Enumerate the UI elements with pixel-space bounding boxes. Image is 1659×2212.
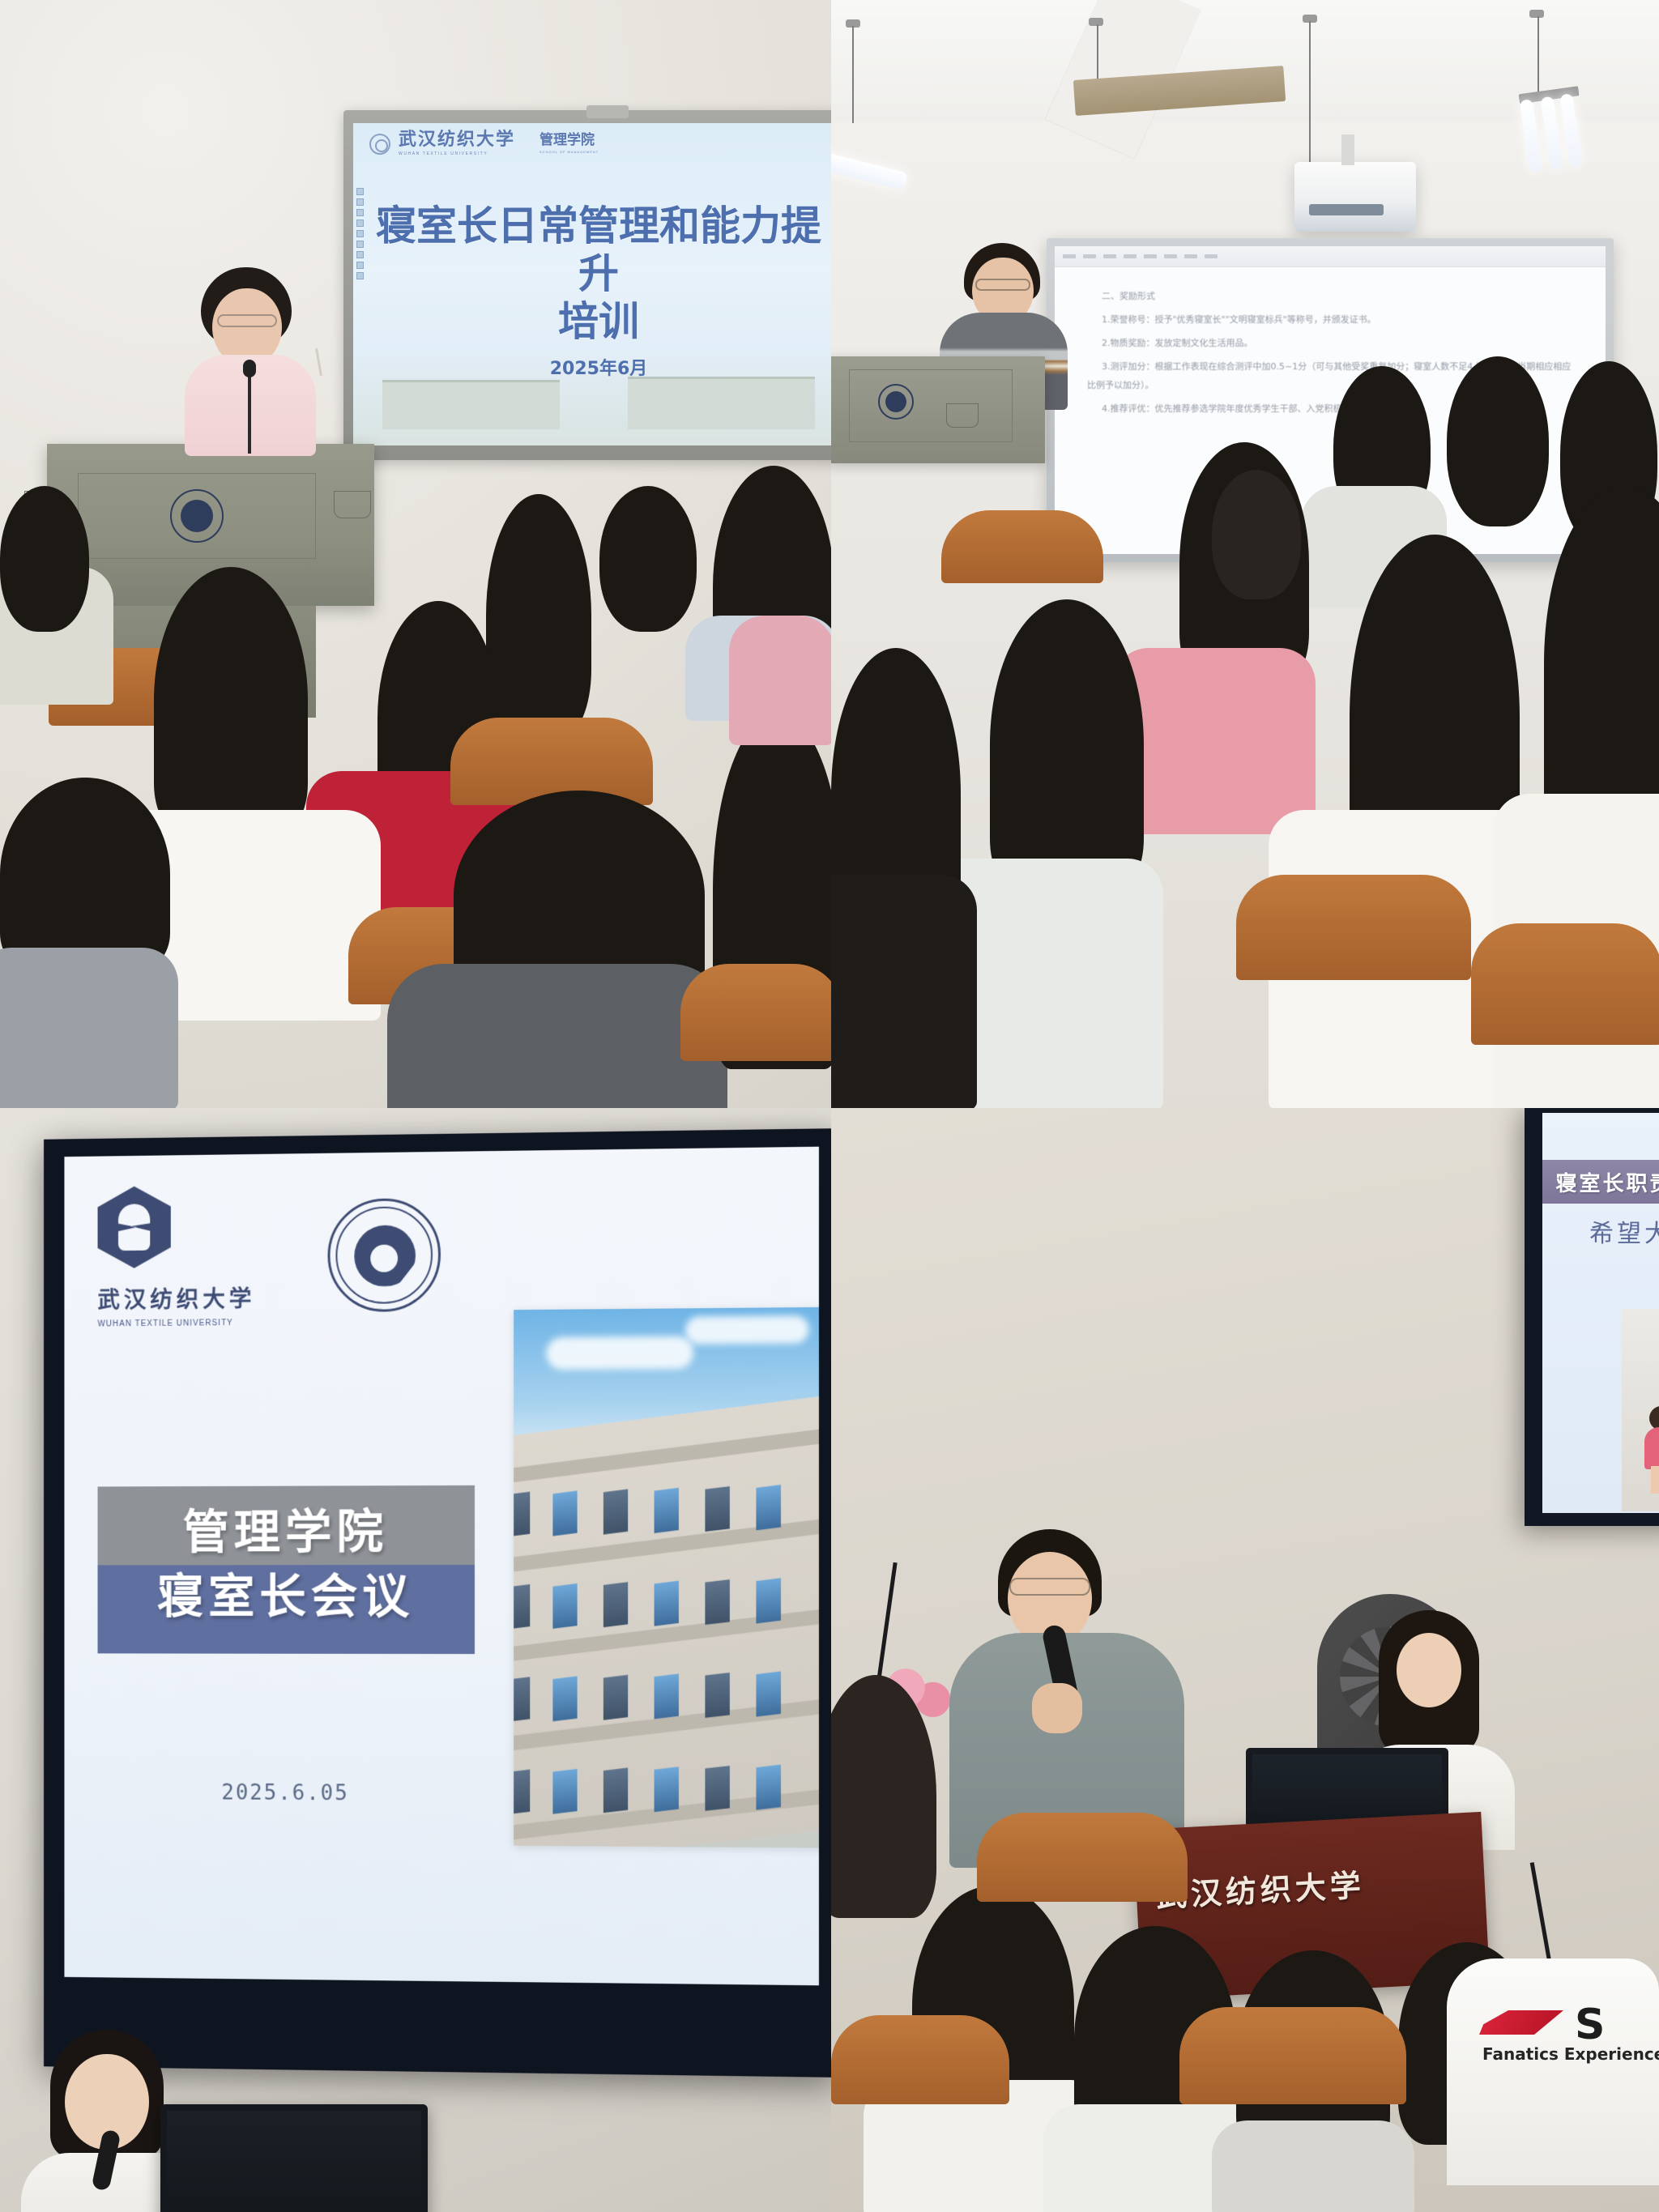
slide-body-text: 希望大 bbox=[1542, 1213, 1659, 1249]
hexagon-logo-icon bbox=[98, 1186, 181, 1276]
university-name-zh: 武汉纺织大学 bbox=[399, 131, 515, 149]
projection-screen-frame: 寝室长职责 希望大 bbox=[1525, 1108, 1659, 1526]
fluorescent-tube bbox=[1540, 96, 1563, 170]
department-name-en: SCHOOL OF MANAGEMENT bbox=[539, 150, 599, 154]
window bbox=[552, 1583, 577, 1629]
audience-shirt bbox=[0, 948, 178, 1108]
figure-dress bbox=[1644, 1427, 1659, 1469]
facade-band bbox=[514, 1423, 819, 1485]
glasses-icon bbox=[975, 279, 1030, 291]
university-seal-icon bbox=[369, 134, 390, 155]
building-facade bbox=[514, 1390, 819, 1848]
doc-line: 2.物质奖励：发放定制文化生活用品。 bbox=[1087, 334, 1573, 352]
title-card-upper-band: 管理学院 bbox=[98, 1485, 475, 1566]
slide-title-line-1: 寝室长日常管理和能力提升 bbox=[373, 202, 825, 298]
projector-mount bbox=[1341, 134, 1354, 165]
hair-clip-icon bbox=[1212, 470, 1301, 599]
figure-legs bbox=[1651, 1466, 1659, 1494]
ribbon-item[interactable] bbox=[1184, 254, 1197, 258]
toolbar-icon[interactable] bbox=[356, 272, 364, 279]
f1-shirt-letter: S bbox=[1575, 2001, 1605, 2049]
assistant-face bbox=[1397, 1633, 1461, 1707]
ceiling-anchor bbox=[1529, 10, 1544, 18]
slide-illustration bbox=[1622, 1309, 1659, 1511]
desktop-monitor[interactable] bbox=[160, 2104, 428, 2212]
projector-lens-icon bbox=[1309, 204, 1384, 215]
window bbox=[756, 1485, 781, 1530]
f1-shirt-tagline: Fanatics Experience bbox=[1482, 2044, 1659, 2064]
f1-logo-icon bbox=[1479, 2010, 1563, 2035]
panel-bottom-right: 寝室长职责 希望大 bbox=[831, 1108, 1659, 2212]
audience-head bbox=[154, 567, 308, 834]
slide-title-line-2: 培训 bbox=[373, 298, 825, 346]
slide-body: 希望大 bbox=[1542, 1213, 1659, 1513]
audience-head bbox=[990, 599, 1144, 891]
cup-holder bbox=[334, 491, 371, 518]
toolbar-icon[interactable] bbox=[356, 262, 364, 269]
window bbox=[756, 1671, 781, 1716]
photo-collage: 武汉纺织大学 WUHAN TEXTILE UNIVERSITY 管理学院 SCH… bbox=[0, 0, 1659, 2212]
slide-title-card: 管理学院 寝室长会议 bbox=[98, 1485, 475, 1655]
toolbar-icon[interactable] bbox=[356, 198, 364, 206]
audience-head bbox=[599, 486, 697, 632]
window bbox=[705, 1486, 729, 1532]
slide-section-header: 寝室长职责 bbox=[1542, 1160, 1659, 1204]
projected-title-slide: 武汉纺织大学 WUHAN TEXTILE UNIVERSITY 管理学院 SCH… bbox=[353, 123, 831, 445]
university-name-en: WUHAN TEXTILE UNIVERSITY bbox=[399, 151, 515, 156]
word-ribbon[interactable] bbox=[1055, 246, 1606, 267]
university-name-en: WUHAN TEXTILE UNIVERSITY bbox=[98, 1319, 256, 1329]
window bbox=[603, 1582, 628, 1627]
audience-shirt bbox=[729, 616, 831, 745]
audience-shirt bbox=[1212, 2120, 1414, 2212]
window bbox=[552, 1676, 577, 1721]
window bbox=[514, 1770, 530, 1815]
lectern-panel bbox=[78, 473, 316, 559]
university-logo-group: 武汉纺织大学 WUHAN TEXTILE UNIVERSITY bbox=[98, 1185, 256, 1329]
projected-title-slide: 武汉纺织大学 WUHAN TEXTILE UNIVERSITY 管理学院 Sch… bbox=[64, 1147, 819, 1986]
window bbox=[655, 1673, 679, 1719]
slide-logo-row: 武汉纺织大学 WUHAN TEXTILE UNIVERSITY 管理学院 Sch… bbox=[98, 1183, 441, 1329]
window bbox=[705, 1766, 729, 1811]
slide-header-logos: 武汉纺织大学 WUHAN TEXTILE UNIVERSITY 管理学院 SCH… bbox=[369, 131, 599, 156]
toolbar-icon[interactable] bbox=[356, 251, 364, 258]
ribbon-item[interactable] bbox=[1164, 254, 1177, 258]
window bbox=[514, 1492, 530, 1537]
ribbon-item[interactable] bbox=[1144, 254, 1157, 258]
desk-back bbox=[831, 2015, 1009, 2104]
fluorescent-tube bbox=[1559, 93, 1582, 167]
lectern-panel bbox=[849, 369, 1013, 442]
toolbar-icon[interactable] bbox=[356, 230, 364, 237]
window bbox=[603, 1768, 628, 1813]
title-card-lower-band: 寝室长会议 bbox=[98, 1565, 475, 1654]
ceiling-anchor bbox=[1089, 18, 1103, 26]
presenter-hand bbox=[1032, 1683, 1082, 1733]
fluorescent-light-fixture bbox=[1519, 84, 1599, 173]
window bbox=[655, 1488, 679, 1533]
projection-screen-frame: 武汉纺织大学 WUHAN TEXTILE UNIVERSITY 管理学院 Sch… bbox=[44, 1128, 831, 2078]
slide-date: 2025.6.05 bbox=[98, 1780, 475, 1807]
desk-back bbox=[941, 510, 1103, 583]
audience-head bbox=[486, 494, 591, 737]
desk-back bbox=[1179, 2007, 1406, 2104]
hexagon-shape bbox=[98, 1186, 171, 1268]
desk-back bbox=[977, 1813, 1188, 1902]
slide-header-text: 寝室长职责 bbox=[1555, 1167, 1659, 1197]
window bbox=[603, 1490, 628, 1535]
cartoon-figure-icon bbox=[1640, 1406, 1659, 1495]
panel-bottom-left: 武汉纺织大学 WUHAN TEXTILE UNIVERSITY 管理学院 Sch… bbox=[0, 1108, 831, 2212]
toolbar-icon[interactable] bbox=[356, 188, 364, 195]
toolbar-icon[interactable] bbox=[356, 219, 364, 227]
ribbon-item[interactable] bbox=[1205, 254, 1218, 258]
hanging-wire bbox=[1537, 16, 1539, 94]
whiteboard-frame: 武汉纺织大学 WUHAN TEXTILE UNIVERSITY 管理学院 SCH… bbox=[343, 110, 831, 460]
ribbon-item[interactable] bbox=[1083, 254, 1096, 258]
cloud bbox=[546, 1336, 693, 1370]
projected-slide: 寝室长职责 希望大 bbox=[1542, 1113, 1659, 1513]
university-seal-icon bbox=[170, 489, 224, 543]
window bbox=[705, 1579, 729, 1625]
desk-back bbox=[1236, 875, 1471, 980]
hanging-wire bbox=[1309, 21, 1311, 180]
audience-head bbox=[1447, 356, 1549, 526]
lectern bbox=[831, 356, 1045, 463]
window bbox=[552, 1490, 577, 1536]
hanging-wire bbox=[852, 26, 854, 123]
window bbox=[655, 1581, 679, 1626]
audience-jacket bbox=[387, 964, 727, 1108]
smartboard-toolbar[interactable] bbox=[355, 188, 365, 374]
window bbox=[514, 1677, 530, 1722]
cup-holder bbox=[946, 403, 979, 428]
microphone-icon bbox=[243, 360, 256, 377]
window bbox=[655, 1767, 679, 1812]
ribbon-item[interactable] bbox=[1124, 254, 1137, 258]
ceiling-projector bbox=[1294, 162, 1416, 232]
window bbox=[552, 1769, 577, 1814]
slide-title-line-1: 管理学院 bbox=[98, 1502, 475, 1562]
window bbox=[705, 1673, 729, 1718]
audience-head bbox=[0, 486, 89, 632]
glasses-icon bbox=[1009, 1578, 1090, 1596]
audience-f1-shirt: S Fanatics Experience F1 bbox=[1447, 1958, 1659, 2185]
department-name-zh: 管理学院 bbox=[539, 134, 599, 147]
doc-line: 1.荣誉称号：授予"优秀寝室长""文明寝室标兵"等称号，并颁发证书。 bbox=[1087, 310, 1573, 329]
ribbon-item[interactable] bbox=[1103, 254, 1116, 258]
audience-shirt bbox=[831, 875, 977, 1108]
school-of-management-seal-icon: 管理学院 School of Management bbox=[328, 1197, 441, 1311]
window bbox=[514, 1584, 530, 1630]
slide-date: 2025年6月 bbox=[353, 354, 831, 380]
monitor-screen bbox=[167, 2111, 421, 2212]
window bbox=[603, 1675, 628, 1720]
window bbox=[756, 1765, 781, 1810]
toolbar-icon[interactable] bbox=[356, 209, 364, 216]
microphone-stand bbox=[248, 364, 251, 454]
desk-back bbox=[680, 964, 831, 1061]
panel-top-right: 二、奖励形式 1.荣誉称号：授予"优秀寝室长""文明寝室标兵"等称号，并颁发证书… bbox=[831, 0, 1659, 1108]
window bbox=[756, 1578, 781, 1623]
panel-top-left: 武汉纺织大学 WUHAN TEXTILE UNIVERSITY 管理学院 SCH… bbox=[0, 0, 831, 1108]
speaker-figure bbox=[173, 267, 327, 454]
dormitory-building-photo bbox=[514, 1307, 819, 1848]
desk-back bbox=[450, 718, 653, 805]
doc-line: 二、奖励形式 bbox=[1102, 287, 1573, 305]
desk-back bbox=[1471, 923, 1659, 1045]
slide-title: 寝室长日常管理和能力提升 培训 bbox=[373, 202, 825, 346]
cloud bbox=[685, 1315, 809, 1345]
slide-title-line-2: 寝室长会议 bbox=[98, 1566, 475, 1626]
glasses-icon bbox=[217, 314, 277, 327]
university-seal-icon bbox=[878, 384, 914, 420]
university-name-zh: 武汉纺织大学 bbox=[98, 1281, 256, 1315]
audience-head bbox=[0, 778, 170, 972]
toolbar-icon[interactable] bbox=[356, 241, 364, 248]
